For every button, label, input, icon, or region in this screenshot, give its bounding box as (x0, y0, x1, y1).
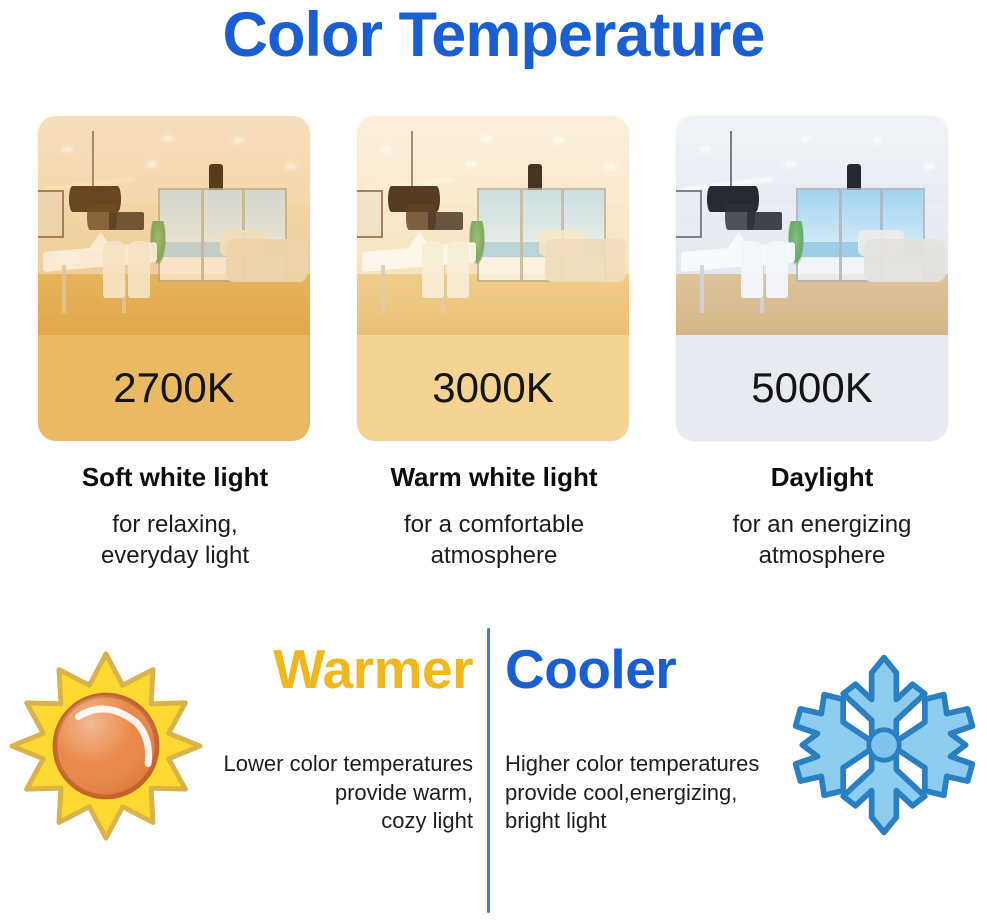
caption-description: for an energizing atmosphere (657, 509, 987, 571)
temperature-band-2700k: 2700K (38, 335, 310, 441)
room-photo-5000k (676, 116, 948, 335)
cooler-body: Higher color temperatures provide cool,e… (505, 750, 825, 836)
temperature-card-5000k[interactable]: 5000K (676, 116, 948, 441)
temperature-label: 5000K (751, 364, 872, 412)
caption-description: for relaxing, everyday light (10, 509, 340, 571)
temperature-band-5000k: 5000K (676, 335, 948, 441)
caption-title: Soft white light (10, 462, 340, 493)
room-photo-3000k (357, 116, 629, 335)
caption-title: Daylight (657, 462, 987, 493)
room-photo-2700k (38, 116, 310, 335)
caption-3000k: Warm white light for a comfortable atmos… (329, 462, 659, 572)
cooler-heading: Cooler (505, 642, 676, 697)
warmer-body: Lower color temperatures provide warm, c… (173, 750, 473, 836)
temperature-card-3000k[interactable]: 3000K (357, 116, 629, 441)
warmer-heading: Warmer (273, 642, 473, 697)
temperature-label: 2700K (113, 364, 234, 412)
caption-title: Warm white light (329, 462, 659, 493)
vertical-divider (487, 628, 490, 913)
page-title: Color Temperature (0, 2, 987, 68)
temperature-label: 3000K (432, 364, 553, 412)
caption-5000k: Daylight for an energizing atmosphere (657, 462, 987, 572)
warmer-cooler-comparison: Warmer Lower color temperatures provide … (0, 612, 987, 921)
caption-description: for a comfortable atmosphere (329, 509, 659, 571)
snowflake-icon (789, 650, 979, 840)
card-captions: Soft white light for relaxing, everyday … (0, 462, 987, 592)
temperature-band-3000k: 3000K (357, 335, 629, 441)
caption-2700k: Soft white light for relaxing, everyday … (10, 462, 340, 572)
temperature-card-2700k[interactable]: 2700K (38, 116, 310, 441)
temperature-cards-row: 2700K (0, 116, 987, 446)
